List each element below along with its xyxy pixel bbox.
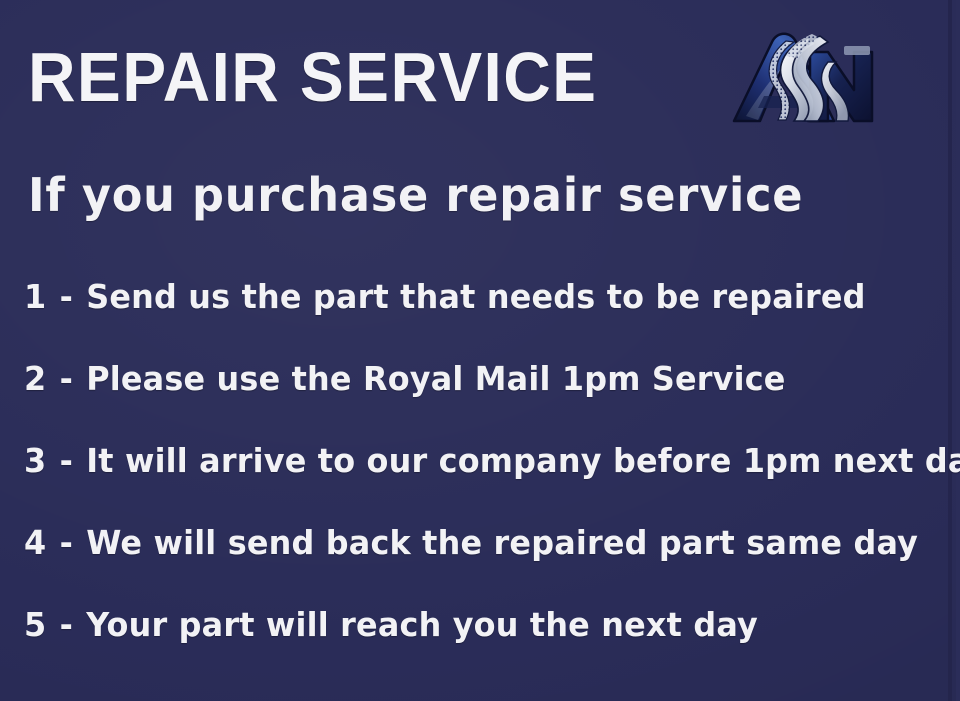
page-title: REPAIR SERVICE xyxy=(28,40,597,114)
steps-list: 1 - Send us the part that needs to be re… xyxy=(24,278,944,644)
asn-logo xyxy=(724,28,890,126)
right-edge-band xyxy=(948,0,952,701)
list-item: 3 - It will arrive to our company before… xyxy=(24,442,912,480)
step-text: Your part will reach you the next day xyxy=(86,605,758,644)
repair-service-poster: REPAIR SERVICE xyxy=(0,0,960,701)
step-number: 2 xyxy=(24,359,46,398)
list-item: 1 - Send us the part that needs to be re… xyxy=(24,278,912,316)
step-separator: - xyxy=(58,441,75,480)
step-text: It will arrive to our company before 1pm… xyxy=(86,441,960,480)
step-text: We will send back the repaired part same… xyxy=(86,523,918,562)
step-number: 4 xyxy=(24,523,46,562)
list-item: 5 - Your part will reach you the next da… xyxy=(24,606,912,644)
step-text: Send us the part that needs to be repair… xyxy=(86,277,865,316)
header: REPAIR SERVICE xyxy=(28,36,932,132)
step-number: 1 xyxy=(24,277,46,316)
step-number: 3 xyxy=(24,441,46,480)
far-right-edge-band xyxy=(956,0,960,701)
step-text: Please use the Royal Mail 1pm Service xyxy=(86,359,785,398)
subtitle: If you purchase repair service xyxy=(28,168,803,222)
step-number: 5 xyxy=(24,605,46,644)
step-separator: - xyxy=(58,523,75,562)
step-separator: - xyxy=(58,277,75,316)
list-item: 2 - Please use the Royal Mail 1pm Servic… xyxy=(24,360,912,398)
step-separator: - xyxy=(58,605,75,644)
step-separator: - xyxy=(58,359,75,398)
list-item: 4 - We will send back the repaired part … xyxy=(24,524,912,562)
